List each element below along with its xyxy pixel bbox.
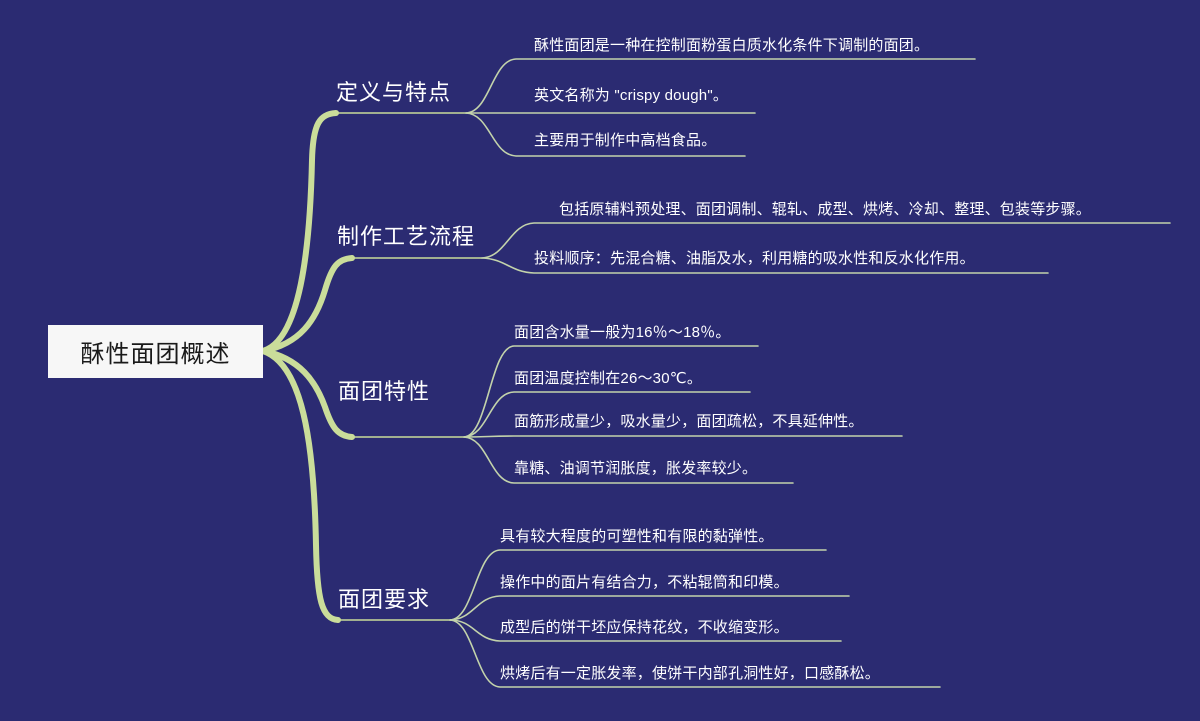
leaf-3-2[interactable]: 面团温度控制在26～30℃。 (514, 371, 702, 391)
root-node[interactable]: 酥性面团概述 (48, 325, 263, 378)
leaf-2-2[interactable]: 投料顺序：先混合糖、油脂及水，利用糖的吸水性和反水化作用。 (534, 251, 975, 271)
leaf-3-3[interactable]: 面筋形成量少，吸水量少，面团疏松，不具延伸性。 (514, 414, 864, 434)
leaf-4-4[interactable]: 烘烤后有一定胀发率，使饼干内部孔洞性好，口感酥松。 (500, 666, 880, 686)
branch-label-4[interactable]: 面团要求 (338, 589, 430, 611)
branch-label-1[interactable]: 定义与特点 (336, 82, 451, 104)
branch-curve-2 (263, 258, 352, 351)
leaf-4-3[interactable]: 成型后的饼干坯应保持花纹，不收缩变形。 (500, 620, 789, 640)
root-node-label: 酥性面团概述 (81, 334, 231, 369)
leaf-1-3[interactable]: 主要用于制作中高档食品。 (534, 133, 716, 153)
mindmap-canvas: 酥性面团概述 定义与特点 酥性面团是一种在控制面粉蛋白质水化条件下调制的面团。 … (0, 0, 1200, 721)
leaf-1-2[interactable]: 英文名称为 "crispy dough"。 (534, 88, 728, 108)
leaf-2-1[interactable]: 包括原辅料预处理、面团调制、辊轧、成型、烘烤、冷却、整理、包装等步骤。 (559, 202, 1091, 222)
branch-curve-1 (263, 113, 336, 351)
branch-curve-4 (263, 351, 338, 620)
leaf-4-1[interactable]: 具有较大程度的可塑性和有限的黏弹性。 (500, 529, 774, 549)
leaf-curve-4-2 (450, 596, 849, 620)
leaf-4-2[interactable]: 操作中的面片有结合力，不粘辊筒和印模。 (500, 575, 789, 595)
branch-label-2[interactable]: 制作工艺流程 (337, 226, 475, 248)
leaf-1-1[interactable]: 酥性面团是一种在控制面粉蛋白质水化条件下调制的面团。 (534, 38, 929, 58)
leaf-3-4[interactable]: 靠糖、油调节润胀度，胀发率较少。 (514, 461, 757, 481)
branch-label-3[interactable]: 面团特性 (338, 381, 430, 403)
leaf-curve-3-3 (464, 436, 902, 437)
leaf-3-1[interactable]: 面团含水量一般为16％～18％。 (514, 325, 731, 345)
